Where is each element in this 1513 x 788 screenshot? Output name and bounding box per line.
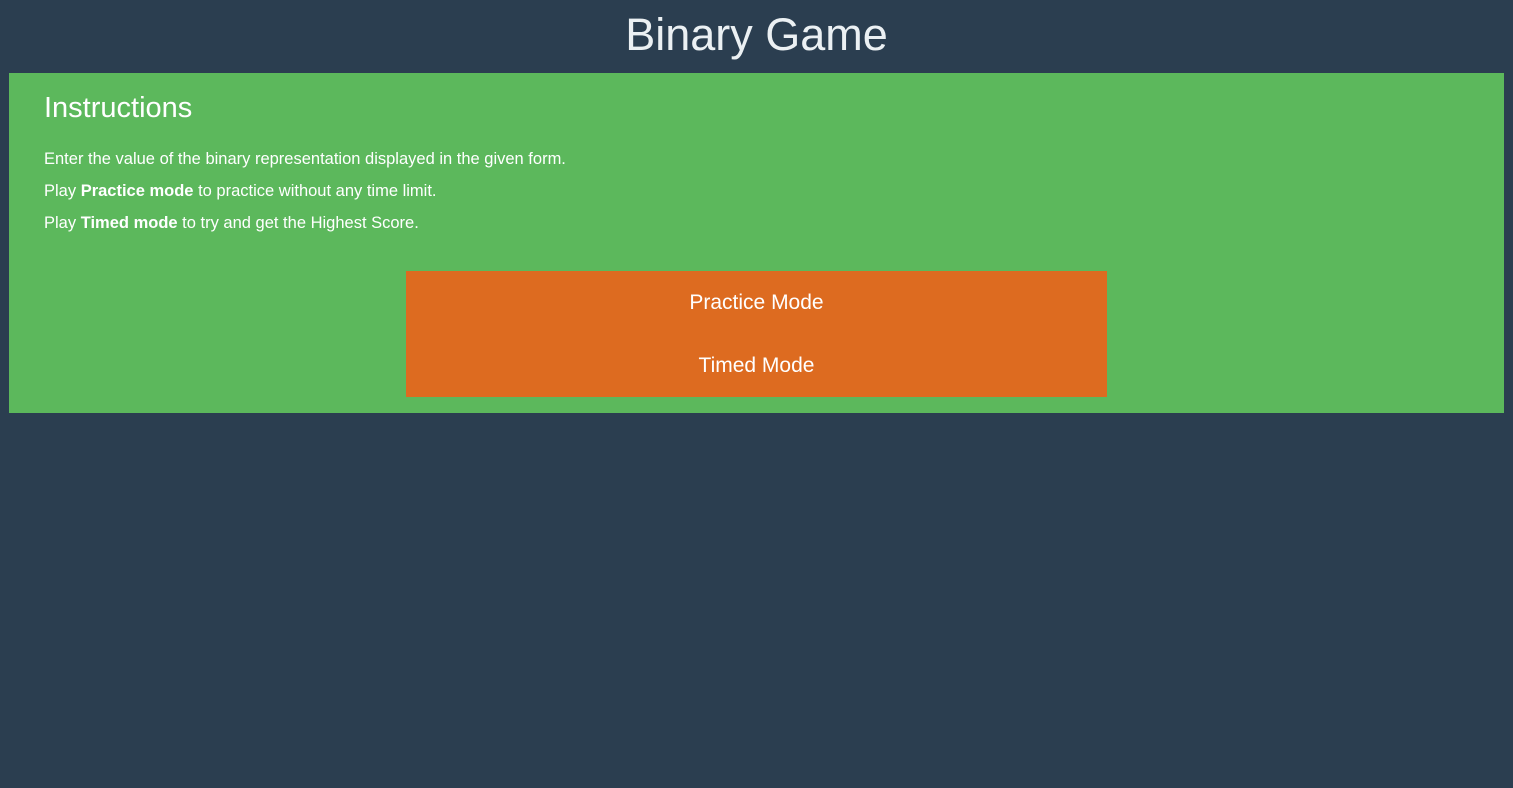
- app-header: Binary Game: [0, 0, 1513, 73]
- mode-button-group: Practice Mode Timed Mode: [406, 271, 1107, 397]
- instructions-panel: Instructions Enter the value of the bina…: [9, 73, 1504, 413]
- page-title: Binary Game: [625, 12, 888, 61]
- instruction-line-2-emphasis: Practice mode: [81, 182, 194, 200]
- page-body: [0, 413, 1513, 788]
- instruction-line-1-pre: Enter the value of the binary representa…: [44, 150, 566, 168]
- instruction-line-2-post: to practice without any time limit.: [194, 182, 437, 200]
- instruction-line-3-pre: Play: [44, 214, 81, 232]
- instruction-line-2-pre: Play: [44, 182, 81, 200]
- instructions-heading: Instructions: [44, 91, 1504, 126]
- practice-mode-button[interactable]: Practice Mode: [406, 271, 1107, 334]
- timed-mode-button[interactable]: Timed Mode: [406, 334, 1107, 397]
- instruction-line-3: Play Timed mode to try and get the Highe…: [44, 207, 1504, 239]
- instructions-panel-wrapper: Instructions Enter the value of the bina…: [0, 73, 1513, 413]
- instruction-line-3-post: to try and get the Highest Score.: [178, 214, 419, 232]
- instruction-line-1: Enter the value of the binary representa…: [44, 143, 1504, 175]
- instructions-list: Enter the value of the binary representa…: [44, 143, 1504, 239]
- instruction-line-3-emphasis: Timed mode: [81, 214, 178, 232]
- instruction-line-2: Play Practice mode to practice without a…: [44, 175, 1504, 207]
